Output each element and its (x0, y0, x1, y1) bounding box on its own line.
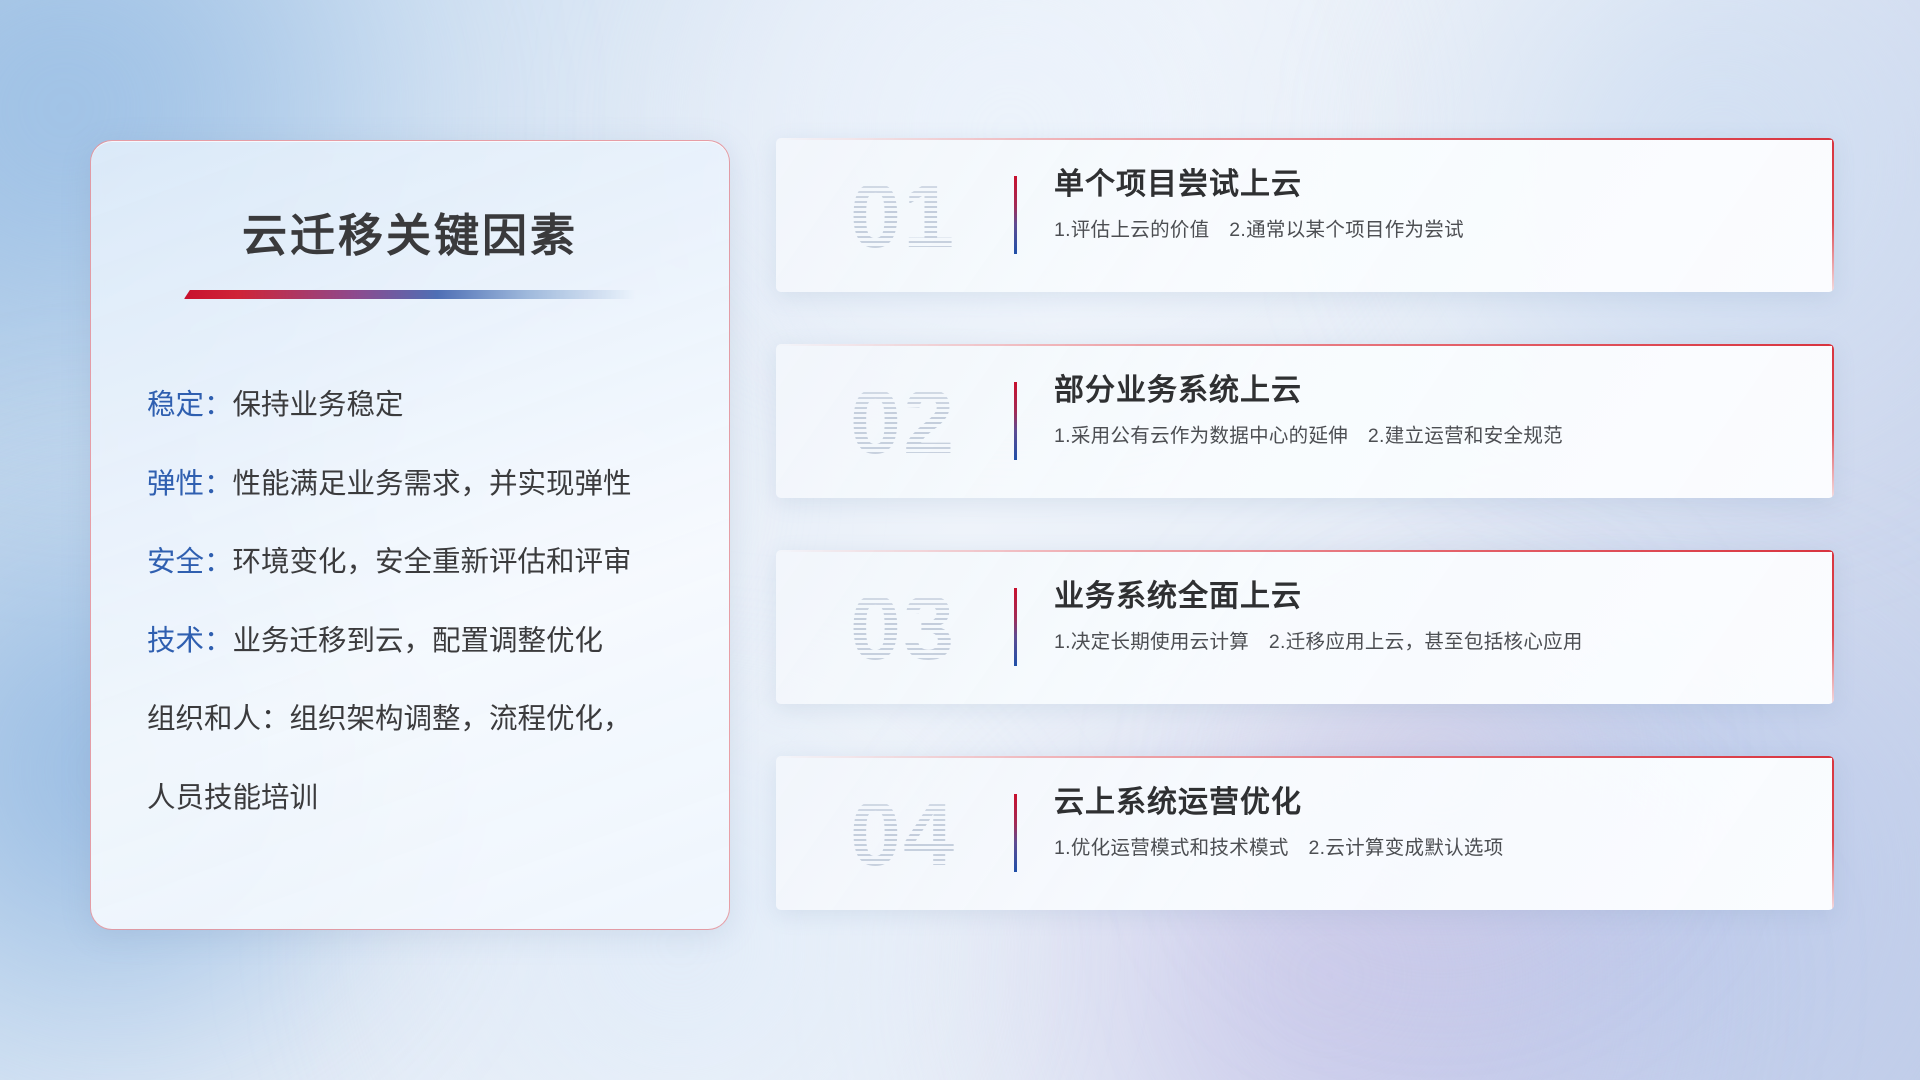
card-body: 云上系统运营优化1.优化运营模式和技术模式 2.云计算变成默认选项 (1054, 786, 1794, 860)
card-accent-top (776, 756, 1834, 758)
factor-text: 保持业务稳定 (233, 389, 404, 421)
factor-label: 弹性： (147, 468, 233, 500)
card-accent-right (1832, 344, 1834, 498)
card-number: 03 (808, 568, 998, 688)
factor-item: 人员技能培训 (147, 784, 729, 813)
card-accent-right (1832, 756, 1834, 910)
card-number: 04 (808, 774, 998, 894)
card-body: 部分业务系统上云1.采用公有云作为数据中心的延伸 2.建立运营和安全规范 (1054, 374, 1794, 448)
factor-item: 安全：环境变化，安全重新评估和评审 (147, 548, 729, 577)
stage-card[interactable]: 04云上系统运营优化1.优化运营模式和技术模式 2.云计算变成默认选项 (776, 756, 1834, 910)
stage-card[interactable]: 02部分业务系统上云1.采用公有云作为数据中心的延伸 2.建立运营和安全规范 (776, 344, 1834, 498)
page-title: 云迁移关键因素 (91, 199, 729, 264)
card-number: 02 (808, 362, 998, 482)
card-divider-bar (1014, 794, 1017, 872)
card-divider-bar (1014, 176, 1017, 254)
card-accent-right (1832, 138, 1834, 292)
card-title: 单个项目尝试上云 (1054, 168, 1794, 203)
factor-label: 技术： (147, 625, 233, 657)
card-description: 1.采用公有云作为数据中心的延伸 2.建立运营和安全规范 (1054, 425, 1794, 448)
factor-text: 业务迁移到云，配置调整优化 (233, 625, 604, 657)
card-description: 1.决定长期使用云计算 2.迁移应用上云，甚至包括核心应用 (1054, 631, 1794, 654)
card-accent-top (776, 550, 1834, 552)
card-number: 01 (808, 156, 998, 276)
factor-item: 组织和人：组织架构调整，流程优化， (147, 705, 729, 734)
card-divider-bar (1014, 382, 1017, 460)
factor-item: 弹性：性能满足业务需求，并实现弹性 (147, 470, 729, 499)
card-title: 云上系统运营优化 (1054, 786, 1794, 821)
factor-text: 组织架构调整，流程优化， (290, 703, 632, 735)
factor-list: 稳定：保持业务稳定弹性：性能满足业务需求，并实现弹性安全：环境变化，安全重新评估… (91, 391, 729, 812)
key-factors-panel: 云迁移关键因素 稳定：保持业务稳定弹性：性能满足业务需求，并实现弹性安全：环境变… (90, 140, 730, 930)
card-body: 单个项目尝试上云1.评估上云的价值 2.通常以某个项目作为尝试 (1054, 168, 1794, 242)
stage-card-list: 01单个项目尝试上云1.评估上云的价值 2.通常以某个项目作为尝试02部分业务系… (776, 138, 1834, 910)
card-description: 1.优化运营模式和技术模式 2.云计算变成默认选项 (1054, 837, 1794, 860)
card-title: 业务系统全面上云 (1054, 580, 1794, 615)
card-body: 业务系统全面上云1.决定长期使用云计算 2.迁移应用上云，甚至包括核心应用 (1054, 580, 1794, 654)
factor-text: 环境变化，安全重新评估和评审 (233, 546, 632, 578)
card-accent-right (1832, 550, 1834, 704)
card-accent-top (776, 138, 1834, 140)
card-accent-top (776, 344, 1834, 346)
factor-item: 稳定：保持业务稳定 (147, 391, 729, 420)
card-divider-bar (1014, 588, 1017, 666)
card-description: 1.评估上云的价值 2.通常以某个项目作为尝试 (1054, 219, 1794, 242)
title-underline-accent (184, 290, 636, 299)
stage-card[interactable]: 03业务系统全面上云1.决定长期使用云计算 2.迁移应用上云，甚至包括核心应用 (776, 550, 1834, 704)
card-title: 部分业务系统上云 (1054, 374, 1794, 409)
factor-label: 稳定： (147, 389, 233, 421)
factor-text: 人员技能培训 (147, 782, 318, 814)
factor-label: 安全： (147, 546, 233, 578)
factor-label: 组织和人： (147, 703, 290, 735)
factor-item: 技术：业务迁移到云，配置调整优化 (147, 627, 729, 656)
factor-text: 性能满足业务需求，并实现弹性 (233, 468, 632, 500)
stage-card[interactable]: 01单个项目尝试上云1.评估上云的价值 2.通常以某个项目作为尝试 (776, 138, 1834, 292)
